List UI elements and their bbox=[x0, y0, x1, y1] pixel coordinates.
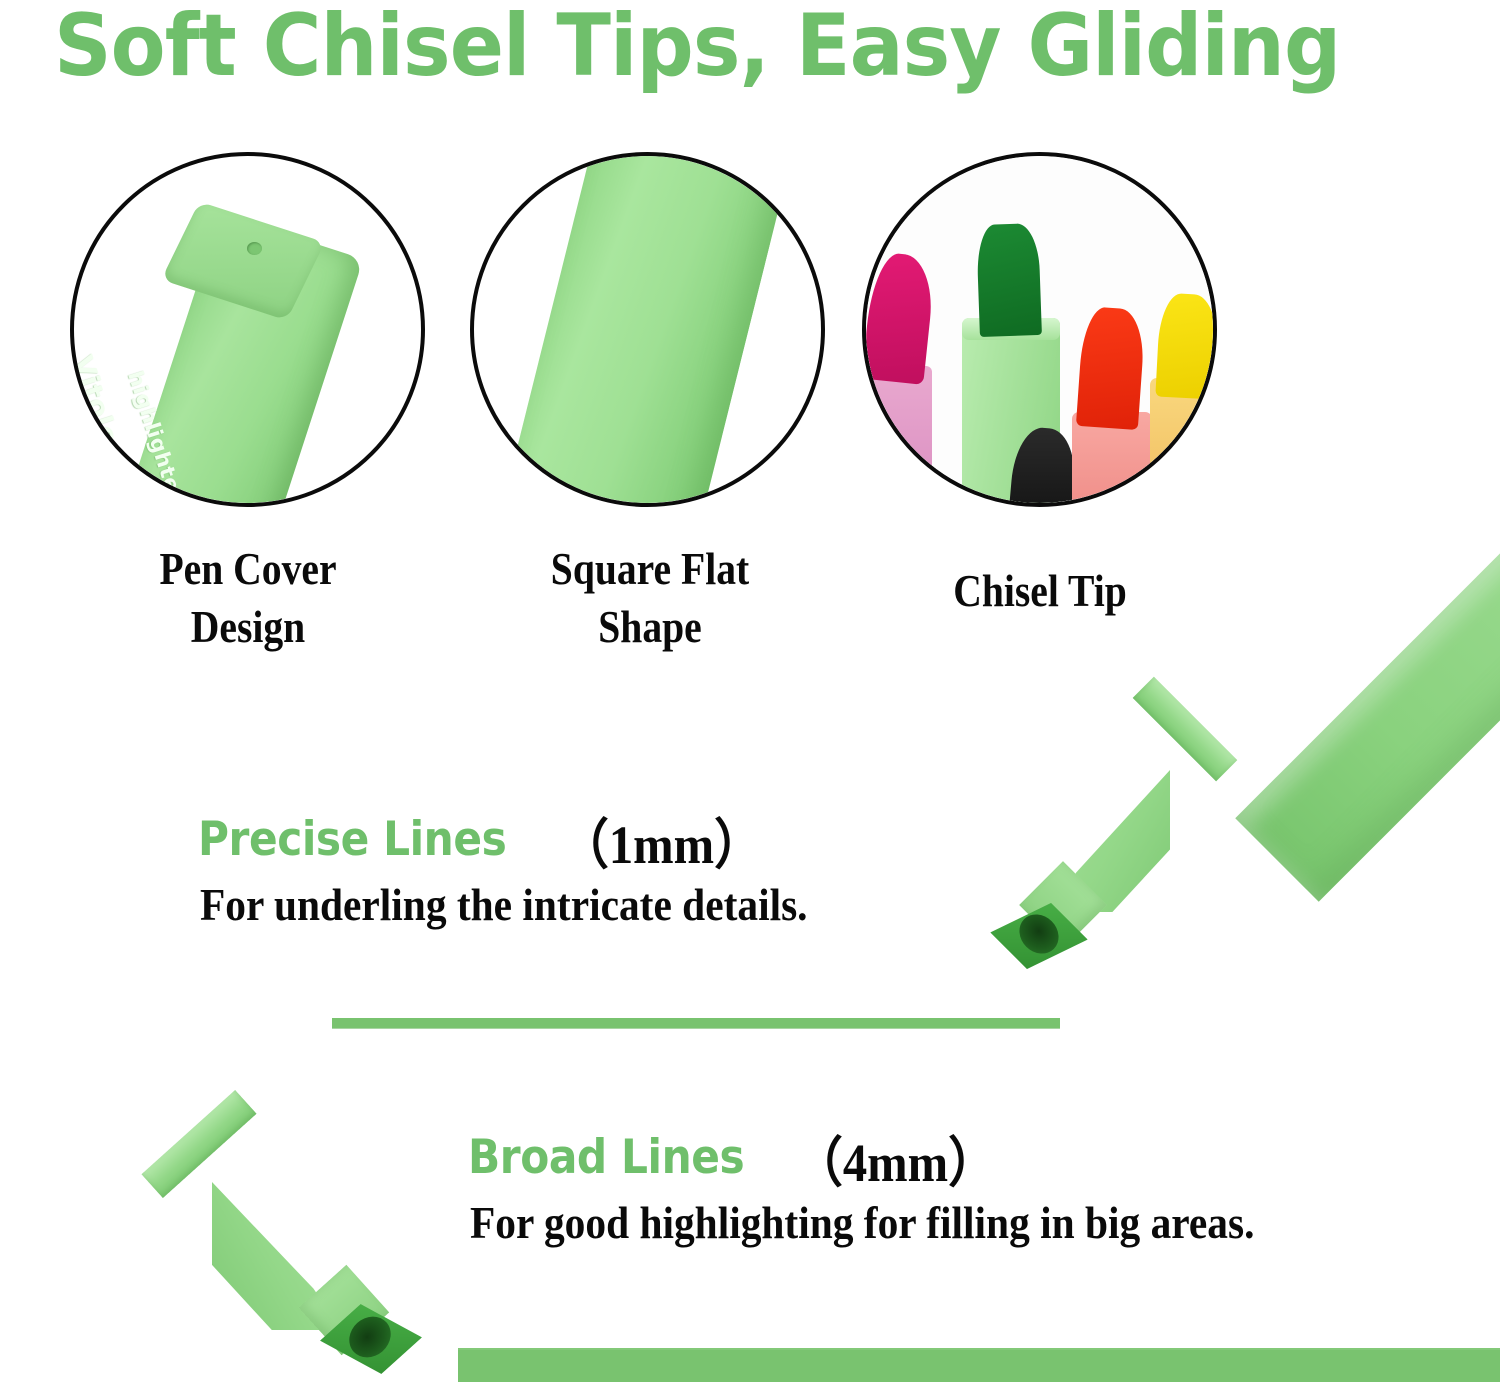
pen-body-magenta bbox=[866, 366, 932, 503]
precise-lines-label: Precise Lines bbox=[198, 812, 506, 867]
caption-line: Shape bbox=[509, 598, 791, 656]
pen-collar bbox=[1133, 677, 1238, 782]
caption-pen-cover: Pen Cover Design bbox=[107, 540, 389, 656]
highlighter-pen-right bbox=[980, 300, 1500, 1040]
precise-lines-width: （1mm） bbox=[560, 800, 762, 879]
feature-photo-square-flat bbox=[470, 152, 825, 507]
highlighter-pen-left bbox=[0, 860, 500, 1382]
caption-square-flat: Square Flat Shape bbox=[509, 540, 791, 656]
product-infographic: Soft Chisel Tips, Easy Gliding Vitoler ®… bbox=[0, 0, 1500, 1382]
flat-barrel-photo bbox=[474, 156, 821, 503]
caption-line: Pen Cover bbox=[107, 540, 389, 598]
caption-line: Design bbox=[107, 598, 389, 656]
caption-line: Square Flat bbox=[509, 540, 791, 598]
broad-lines-width: （4mm） bbox=[794, 1118, 996, 1197]
feature-photo-pen-cover: Vitoler ® highlighter bbox=[70, 152, 425, 507]
pen-barrel bbox=[1235, 380, 1500, 902]
broad-lines-label: Broad Lines bbox=[468, 1130, 744, 1185]
broad-lines-heading: Broad Lines（4mm） bbox=[468, 1118, 1008, 1197]
pen-cap-vent-hole-icon bbox=[247, 242, 262, 255]
pen-collar bbox=[141, 1090, 256, 1198]
broad-line-stroke bbox=[458, 1348, 1500, 1382]
pen-cap-photo: Vitoler ® highlighter bbox=[74, 156, 421, 503]
pen-barrel-closeup bbox=[488, 156, 804, 503]
page-title: Soft Chisel Tips, Easy Gliding bbox=[54, 0, 1170, 98]
broad-lines-description: For good highlighting for filling in big… bbox=[470, 1196, 1254, 1249]
